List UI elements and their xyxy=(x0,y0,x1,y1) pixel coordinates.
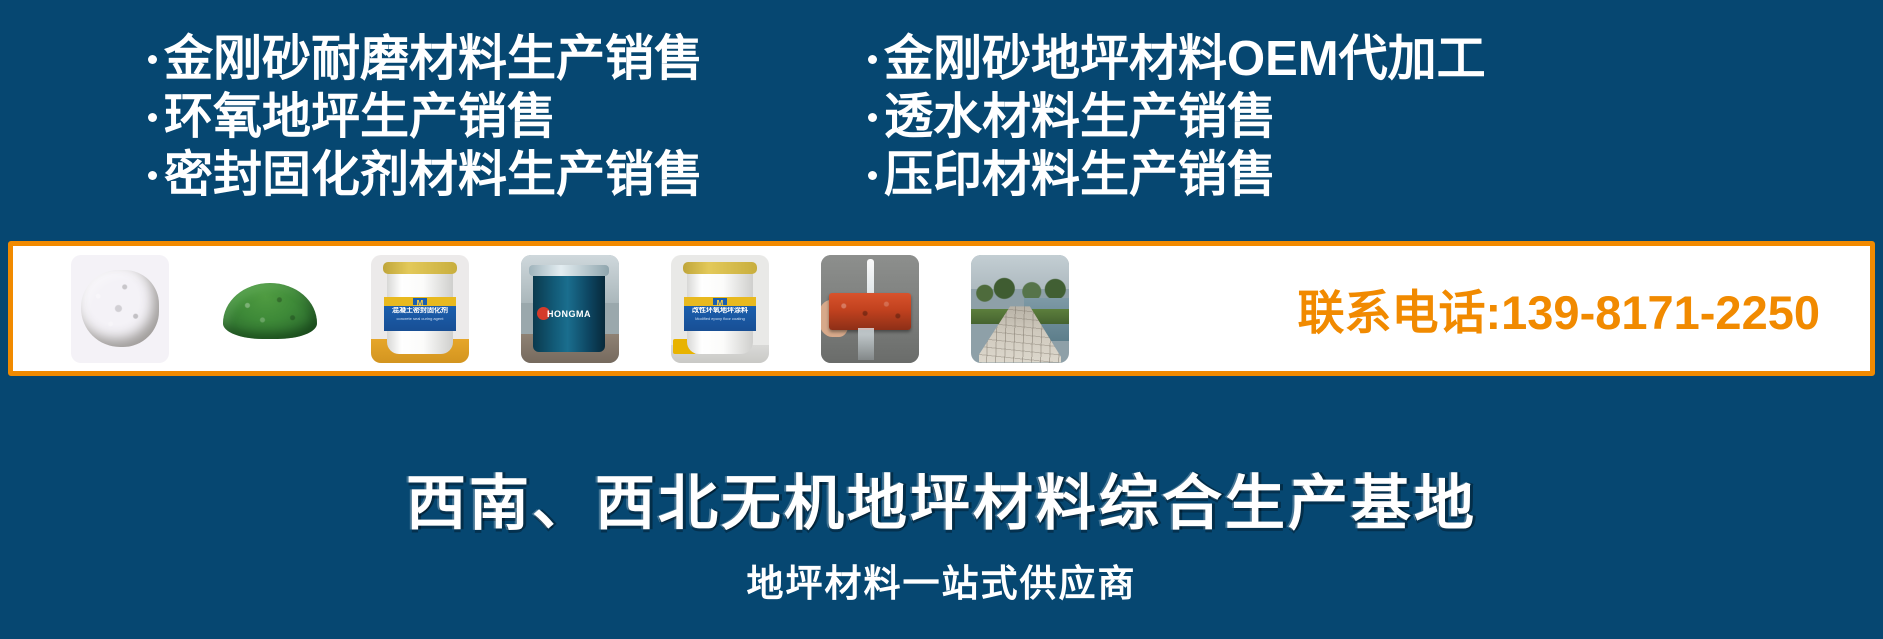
bullet-dot-icon xyxy=(868,113,877,122)
bullet-item-permeable: 透水材料生产销售 xyxy=(868,88,1568,146)
blue-drum-icon: HONGMA xyxy=(533,270,606,352)
product-thumb-concrete-sealer-pail: M 混凝土密封固化剂 concrete seal curing agent xyxy=(371,255,469,363)
bullet-label: 压印材料生产销售 xyxy=(884,151,1276,200)
pail-label-en: Modified epoxy floor coating xyxy=(687,316,753,321)
plastic-pail-icon: M 改性环氧地坪涂料 Modified epoxy floor coating xyxy=(687,267,754,353)
pail-label-en: concrete seal curing agent xyxy=(387,316,453,321)
product-thumb-emery-wear-resistant-powder xyxy=(71,255,169,363)
bullet-label: 金刚砂耐磨材料生产销售 xyxy=(164,35,703,84)
drum-rim xyxy=(529,265,609,276)
contact-phone-label[interactable]: 联系电话:139-8171-2250 xyxy=(1298,274,1821,343)
plastic-pail-icon: M 混凝土密封固化剂 concrete seal curing agent xyxy=(387,267,454,353)
bullet-item-emery-abrasive: 金刚砂耐磨材料生产销售 xyxy=(148,30,868,88)
brand-m-logo-icon: M xyxy=(413,298,427,306)
water-drip xyxy=(858,328,874,360)
bullet-column-left: 金刚砂耐磨材料生产销售 环氧地坪生产销售 密封固化剂材料生产销售 xyxy=(148,30,868,235)
pail-label: M 改性环氧地坪涂料 Modified epoxy floor coating xyxy=(684,297,756,332)
product-thumbnail-list: M 混凝土密封固化剂 concrete seal curing agent HO… xyxy=(71,255,1069,363)
bullet-item-stamped: 压印材料生产销售 xyxy=(868,146,1568,204)
bullet-label: 透水材料生产销售 xyxy=(884,93,1276,142)
pail-label-cn: 混凝土密封固化剂 xyxy=(387,307,453,315)
bullet-item-epoxy-floor: 环氧地坪生产销售 xyxy=(148,88,868,146)
product-thumb-hongma-blue-drum: HONGMA xyxy=(521,255,619,363)
bullet-item-sealer-curing: 密封固化剂材料生产销售 xyxy=(148,146,868,204)
product-thumb-stamped-concrete-walkway xyxy=(971,255,1069,363)
footer-headline: 西南、西北无机地坪材料综合生产基地 xyxy=(0,455,1883,542)
bullet-label: 金刚砂地坪材料OEM代加工 xyxy=(884,35,1486,84)
powder-grain-texture xyxy=(81,270,159,348)
pail-label-cn: 改性环氧地坪涂料 xyxy=(687,307,753,315)
product-thumb-permeable-concrete-block xyxy=(821,255,919,363)
bullet-dot-icon xyxy=(868,171,877,180)
brand-m-logo-icon: M xyxy=(713,298,727,306)
pail-label: M 混凝土密封固化剂 concrete seal curing agent xyxy=(384,297,456,332)
footer-subheadline: 地坪材料一站式供应商 xyxy=(0,553,1883,607)
product-showcase-strip: M 混凝土密封固化剂 concrete seal curing agent HO… xyxy=(8,241,1875,376)
service-bullet-lists: 金刚砂耐磨材料生产销售 环氧地坪生产销售 密封固化剂材料生产销售 金刚砂地坪材料… xyxy=(0,30,1883,235)
bullet-label: 密封固化剂材料生产销售 xyxy=(164,151,703,200)
bullet-dot-icon xyxy=(148,55,157,64)
bullet-dot-icon xyxy=(148,171,157,180)
product-thumb-green-emery-powder xyxy=(221,255,319,363)
powder-grain-texture xyxy=(223,283,317,339)
bullet-column-right: 金刚砂地坪材料OEM代加工 透水材料生产销售 压印材料生产销售 xyxy=(868,30,1568,235)
drum-brand-label: HONGMA xyxy=(537,309,601,319)
pail-lid xyxy=(683,262,758,274)
red-permeable-block-icon xyxy=(829,293,911,330)
bullet-label: 环氧地坪生产销售 xyxy=(164,93,556,142)
pail-lid xyxy=(383,262,458,274)
promo-banner: 金刚砂耐磨材料生产销售 环氧地坪生产销售 密封固化剂材料生产销售 金刚砂地坪材料… xyxy=(0,0,1883,639)
bullet-item-emery-oem: 金刚砂地坪材料OEM代加工 xyxy=(868,30,1568,88)
product-thumb-epoxy-floor-coating-pail: M 改性环氧地坪涂料 Modified epoxy floor coating xyxy=(671,255,769,363)
bullet-dot-icon xyxy=(868,55,877,64)
bullet-dot-icon xyxy=(148,113,157,122)
